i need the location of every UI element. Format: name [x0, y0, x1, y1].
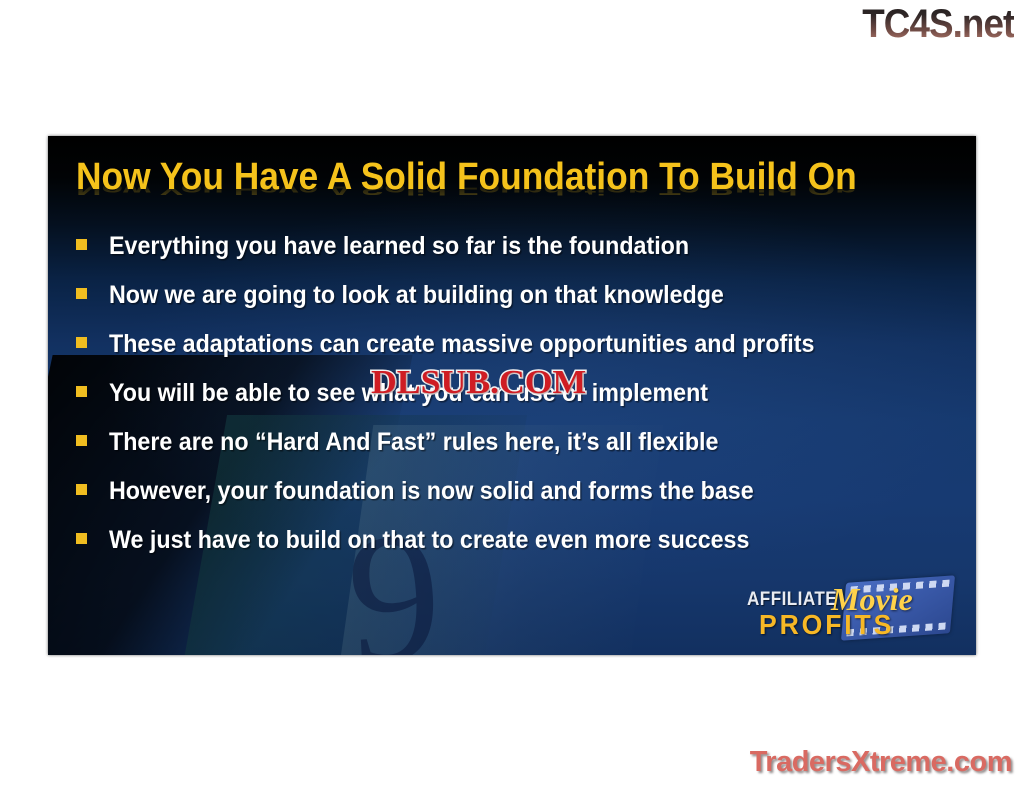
bullet-text: However, your foundation is now solid an…: [109, 477, 754, 506]
tradersxtreme-watermark: TradersXtreme.com: [750, 746, 1012, 779]
logo-word-affiliate: AFFILIATE: [747, 589, 837, 611]
slide-title-block: Now You Have A Solid Foundation To Build…: [76, 158, 956, 236]
list-item: Now we are going to look at building on …: [76, 281, 972, 311]
bullet-square-icon: [76, 239, 87, 250]
bullet-square-icon: [76, 386, 87, 397]
slide-title: Now You Have A Solid Foundation To Build…: [76, 158, 894, 197]
bullet-text: There are no “Hard And Fast” rules here,…: [109, 428, 718, 457]
list-item: We just have to build on that to create …: [76, 526, 972, 556]
dlsub-watermark: DLSUB.COM: [371, 364, 586, 402]
bullet-square-icon: [76, 533, 87, 544]
affiliate-movie-profits-logo: AFFILIATE Movie PROFITS: [747, 579, 952, 641]
bullet-square-icon: [76, 337, 87, 348]
slide-bullet-list: Everything you have learned so far is th…: [76, 232, 972, 575]
logo-word-profits: PROFITS: [759, 609, 894, 641]
list-item: There are no “Hard And Fast” rules here,…: [76, 428, 972, 458]
list-item: Everything you have learned so far is th…: [76, 232, 972, 262]
list-item: However, your foundation is now solid an…: [76, 477, 972, 507]
bullet-text: Now we are going to look at building on …: [109, 281, 724, 310]
bullet-text: These adaptations can create massive opp…: [109, 330, 814, 359]
bullet-square-icon: [76, 484, 87, 495]
bullet-square-icon: [76, 288, 87, 299]
bullet-square-icon: [76, 435, 87, 446]
tc4s-brand-logo: TC4S.net: [862, 2, 1014, 47]
bullet-text: We just have to build on that to create …: [109, 526, 749, 555]
list-item: These adaptations can create massive opp…: [76, 330, 972, 360]
presentation-slide: 9 Now You Have A Solid Foundation To Bui…: [48, 136, 976, 655]
bullet-text: Everything you have learned so far is th…: [109, 232, 689, 261]
